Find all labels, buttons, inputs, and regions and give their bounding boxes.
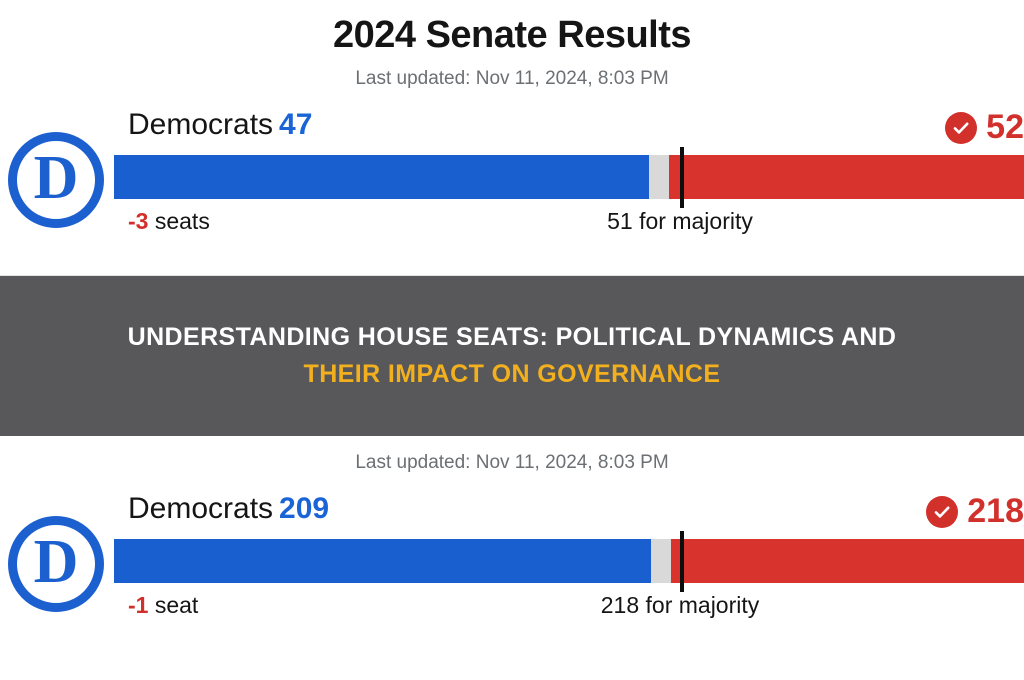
senate-bar-democrat	[114, 155, 649, 199]
house-last-updated: Last updated: Nov 11, 2024, 8:03 PM	[0, 452, 1024, 474]
house-bar-democrat	[114, 539, 651, 583]
democrat-logo-letter: D	[34, 531, 79, 593]
senate-bar-row: D Democrats47 52	[0, 108, 1024, 238]
house-majority-label: 218 for majority	[601, 592, 760, 619]
senate-majority-label: 51 for majority	[607, 208, 753, 235]
house-bar-row: D Democrats209 218	[0, 492, 1024, 622]
overlay-title-line-2: THEIR IMPACT ON GOVERNANCE	[304, 356, 721, 394]
house-democrat-name: Democrats	[128, 492, 273, 525]
senate-republican-label: 52	[945, 108, 1024, 147]
senate-democrat-count: 47	[279, 108, 312, 141]
house-bar	[114, 539, 1024, 583]
senate-seat-change-delta: -3	[128, 208, 148, 234]
senate-title: 2024 Senate Results	[0, 0, 1024, 57]
senate-bar-undecided	[649, 155, 669, 199]
senate-majority-line	[680, 147, 684, 208]
house-democrat-label: Democrats209	[128, 492, 329, 526]
house-majority-line	[680, 531, 684, 592]
winner-check-icon	[926, 496, 958, 528]
house-bar-republican	[671, 539, 1024, 583]
house-republican-count: 218	[967, 492, 1024, 531]
senate-bar-republican	[669, 155, 1024, 199]
senate-results-block: 2024 Senate Results Last updated: Nov 11…	[0, 0, 1024, 276]
house-republican-label: 218	[926, 492, 1024, 531]
democrat-logo-icon: D	[8, 132, 104, 228]
senate-bar-track	[114, 155, 1024, 199]
senate-democrat-label: Democrats47	[128, 108, 312, 142]
senate-democrat-name: Democrats	[128, 108, 273, 141]
overlay-title-line-1: UNDERSTANDING HOUSE SEATS: POLITICAL DYN…	[128, 319, 897, 357]
senate-seat-change: -3 seats	[128, 208, 210, 235]
results-page: 2024 Senate Results Last updated: Nov 11…	[0, 0, 1024, 680]
senate-last-updated: Last updated: Nov 11, 2024, 8:03 PM	[0, 68, 1024, 90]
democrat-logo-icon: D	[8, 516, 104, 612]
democrat-logo-letter: D	[34, 147, 79, 209]
house-seat-change: -1 seat	[128, 592, 198, 619]
winner-check-icon	[945, 112, 977, 144]
house-bar-undecided	[651, 539, 671, 583]
senate-seat-change-unit: seats	[148, 208, 209, 234]
house-seat-change-delta: -1	[128, 592, 148, 618]
house-bar-track	[114, 539, 1024, 583]
senate-bar	[114, 155, 1024, 199]
house-seat-change-unit: seat	[148, 592, 198, 618]
article-title-overlay: UNDERSTANDING HOUSE SEATS: POLITICAL DYN…	[0, 276, 1024, 436]
senate-republican-count: 52	[986, 108, 1024, 147]
house-democrat-count: 209	[279, 492, 329, 525]
